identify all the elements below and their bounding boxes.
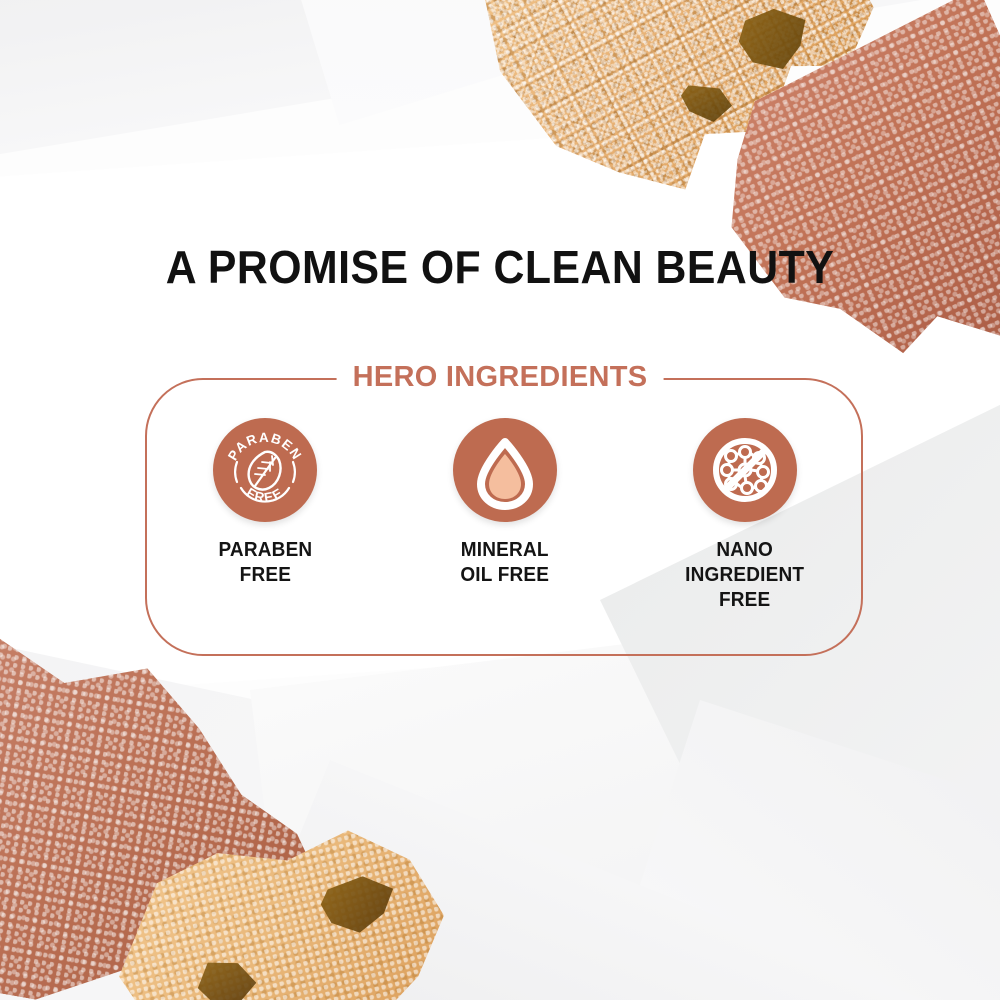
badge-label-line-1: PARABEN (218, 538, 312, 563)
mineral-oil-droplet-icon (453, 418, 557, 522)
badge-circle (693, 418, 797, 522)
badge-label-line-3: FREE (685, 588, 804, 613)
paraben-free-leaf-badge-icon: PARABEN FREE (213, 418, 317, 522)
badge-item-paraben-free[interactable]: PARABEN FREE PARABEN FREE (160, 418, 370, 588)
badge-label-line-2: OIL FREE (461, 563, 550, 588)
badge-label-line-2: INGREDIENT (685, 563, 804, 588)
hero-ingredients-legend: HERO INGREDIENTS (337, 360, 664, 394)
hero-ingredients-badge-row: PARABEN FREE PARABEN FREE (160, 418, 850, 613)
badge-item-nano-ingredient-free[interactable]: NANO INGREDIENT FREE (640, 418, 850, 613)
nano-ingredient-free-prohibition-icon (693, 418, 797, 522)
badge-label: MINERAL OIL FREE (461, 538, 550, 588)
badge-item-mineral-oil-free[interactable]: MINERAL OIL FREE (400, 418, 610, 588)
badge-label-line-1: MINERAL (461, 538, 550, 563)
badge-arc-top-text: PARABEN (225, 430, 305, 463)
badge-circle (453, 418, 557, 522)
badge-circle: PARABEN FREE (213, 418, 317, 522)
promo-banner: A PROMISE OF CLEAN BEAUTY HERO INGREDIEN… (0, 0, 1000, 1000)
badge-label: PARABEN FREE (218, 538, 312, 588)
badge-label: NANO INGREDIENT FREE (685, 538, 804, 613)
page-title: A PROMISE OF CLEAN BEAUTY (35, 240, 965, 294)
badge-label-line-1: NANO (685, 538, 804, 563)
badge-label-line-2: FREE (218, 563, 312, 588)
